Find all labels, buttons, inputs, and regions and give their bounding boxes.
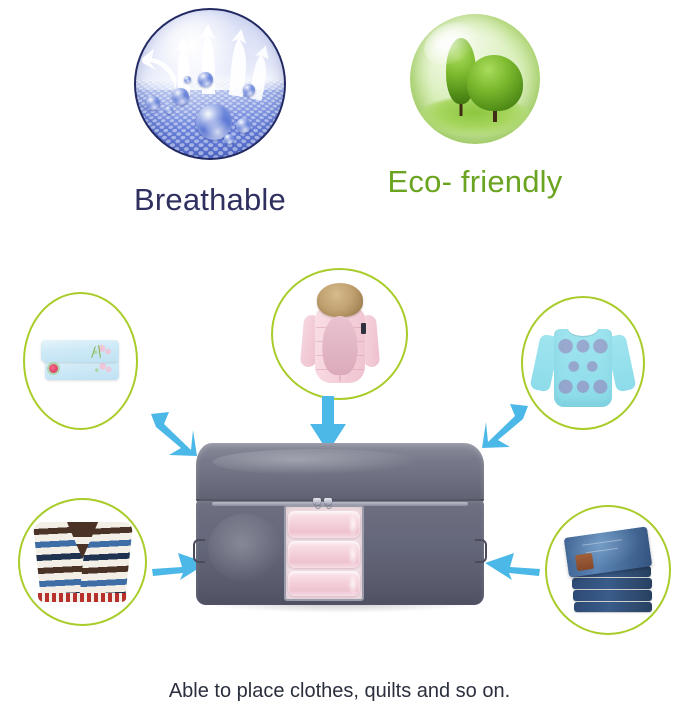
water-droplet-icon <box>184 76 191 83</box>
bag-clear-window <box>284 505 364 601</box>
bag-lid <box>196 443 484 503</box>
feature-breathable-label: Breathable <box>110 182 310 218</box>
rolled-bedding-item <box>288 511 359 538</box>
striped-blanket-image <box>37 522 129 602</box>
zipper-pull-right[interactable] <box>324 498 332 505</box>
arrow-from-jeans <box>484 543 540 583</box>
feature-eco-friendly-label: Eco- friendly <box>360 164 590 200</box>
water-droplet-icon <box>146 96 160 110</box>
item-circle-dress <box>521 296 645 430</box>
bag-handle-left[interactable] <box>193 539 205 563</box>
feature-eco-friendly: Eco- friendly <box>360 14 590 200</box>
rolled-bedding-item <box>288 541 359 568</box>
water-droplet-icon <box>172 88 189 105</box>
item-circle-jeans <box>545 505 671 635</box>
water-droplet-icon <box>243 84 255 96</box>
arrow-from-dress <box>478 400 532 452</box>
water-droplet-icon <box>198 72 213 87</box>
childrens-dress-image <box>535 319 631 407</box>
tree-icon <box>466 58 524 122</box>
arrow-from-quilt <box>147 408 201 460</box>
bag-top-seam <box>196 499 484 501</box>
bag-handle-right[interactable] <box>475 539 487 563</box>
breathable-fabric-orb-icon <box>134 8 286 160</box>
infographic-canvas: Breathable Eco- friendly <box>0 0 679 717</box>
item-circle-quilt <box>23 292 138 430</box>
folded-jeans-image <box>560 526 656 614</box>
water-droplet-icon <box>165 106 173 114</box>
water-droplet-icon <box>236 118 251 133</box>
feature-breathable: Breathable <box>110 8 310 218</box>
zipper-pull-left[interactable] <box>313 498 321 505</box>
item-circle-coat <box>271 268 408 400</box>
item-circle-blanket <box>18 498 147 626</box>
storage-bag <box>196 443 484 605</box>
water-droplet-icon <box>224 134 234 144</box>
rolled-bedding-item <box>288 571 359 596</box>
winter-coat-image <box>300 283 380 385</box>
footer-caption: Able to place clothes, quilts and so on. <box>0 680 679 703</box>
eco-tree-orb-icon <box>410 14 540 144</box>
folded-quilt-image <box>41 338 121 384</box>
